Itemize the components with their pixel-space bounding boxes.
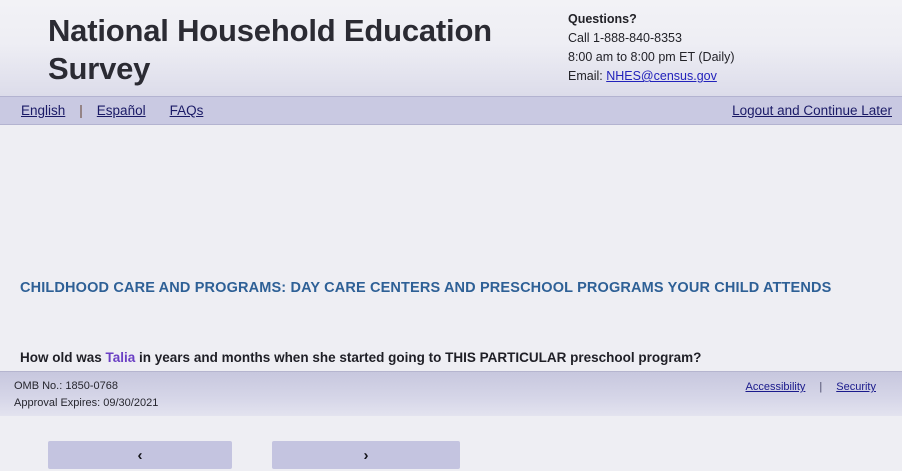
main-content: CHILDHOOD CARE AND PROGRAMS: DAY CARE CE…	[0, 125, 902, 371]
footer-omb-block: OMB No.: 1850-0768 Approval Expires: 09/…	[14, 378, 158, 412]
email-link[interactable]: NHES@census.gov	[606, 69, 717, 83]
chevron-left-icon: ‹	[138, 448, 143, 463]
email-label: Email:	[568, 69, 606, 83]
utility-navbar: English | Español FAQs Logout and Contin…	[0, 96, 902, 125]
nav-link-espanol[interactable]: Español	[85, 103, 158, 118]
page-header: National Household Education Survey Ques…	[0, 0, 902, 96]
chevron-right-icon: ›	[364, 448, 369, 463]
navbar-left-group: English | Español FAQs	[0, 103, 215, 118]
child-name: Talia	[106, 350, 136, 365]
question-text: How old was Talia in years and months wh…	[20, 350, 701, 365]
nav-link-english[interactable]: English	[9, 103, 77, 118]
survey-page: National Household Education Survey Ques…	[0, 0, 902, 416]
question-part-1: How old was	[20, 350, 106, 365]
question-part-2: in years and months when she started goi…	[135, 350, 701, 365]
logout-and-continue-later-link[interactable]: Logout and Continue Later	[732, 103, 892, 118]
nav-separator: |	[77, 103, 85, 118]
email-line: Email: NHES@census.gov	[568, 67, 735, 86]
approval-expires: Approval Expires: 09/30/2021	[14, 395, 158, 412]
omb-number: OMB No.: 1850-0768	[14, 378, 158, 395]
phone-line: Call 1-888-840-8353	[568, 29, 735, 48]
navigation-button-row: ‹ ›	[0, 441, 902, 471]
hours-line: 8:00 am to 8:00 pm ET (Daily)	[568, 48, 735, 67]
navbar-right-group: Logout and Continue Later	[732, 102, 892, 120]
accessibility-link[interactable]: Accessibility	[731, 381, 819, 393]
security-link[interactable]: Security	[822, 381, 890, 393]
nav-link-faqs[interactable]: FAQs	[158, 103, 216, 118]
section-heading: CHILDHOOD CARE AND PROGRAMS: DAY CARE CE…	[20, 278, 880, 299]
contact-info-block: Questions? Call 1-888-840-8353 8:00 am t…	[568, 10, 735, 86]
questions-label: Questions?	[568, 10, 735, 29]
footer-links: Accessibility | Security	[731, 381, 890, 393]
previous-button[interactable]: ‹	[48, 441, 232, 469]
next-button[interactable]: ›	[272, 441, 460, 469]
page-footer: OMB No.: 1850-0768 Approval Expires: 09/…	[0, 371, 902, 416]
page-title: National Household Education Survey	[48, 12, 538, 88]
